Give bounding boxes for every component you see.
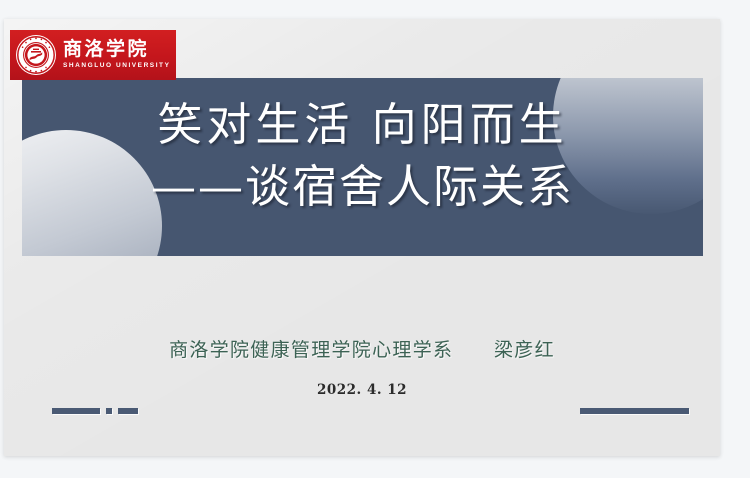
title-block: 笑对生活 向阳而生 ——谈宿舍人际关系: [22, 94, 703, 218]
presenter-line: 商洛学院健康管理学院心理学系 梁彦红: [4, 335, 720, 362]
title-banner: 笑对生活 向阳而生 ——谈宿舍人际关系: [22, 78, 703, 256]
presenter-name: 梁彦红: [494, 339, 555, 361]
university-seal-icon: [16, 35, 56, 75]
university-logo-plate: 商洛学院 SHANGLUO UNIVERSITY: [10, 30, 176, 80]
university-wordmark: 商洛学院 SHANGLUO UNIVERSITY: [63, 40, 170, 70]
decor-dot-left: [106, 408, 112, 414]
slide-viewer: 商洛学院 SHANGLUO UNIVERSITY 笑对生活 向阳而生 ——谈宿舍…: [0, 0, 750, 478]
university-name-en: SHANGLUO UNIVERSITY: [63, 63, 170, 70]
slide-title-sub: ——谈宿舍人际关系: [22, 156, 703, 218]
decor-bar-left-short: [118, 408, 138, 414]
slide-date: 2022. 4. 12: [4, 382, 720, 398]
university-name-cn: 商洛学院: [63, 40, 170, 59]
decor-bar-left-long: [52, 408, 100, 414]
slide-title-main: 笑对生活 向阳而生: [22, 94, 703, 156]
decor-bar-right-long: [580, 408, 689, 414]
presentation-slide[interactable]: 商洛学院 SHANGLUO UNIVERSITY 笑对生活 向阳而生 ——谈宿舍…: [4, 19, 720, 456]
presenter-affiliation: 商洛学院健康管理学院心理学系: [169, 339, 453, 361]
